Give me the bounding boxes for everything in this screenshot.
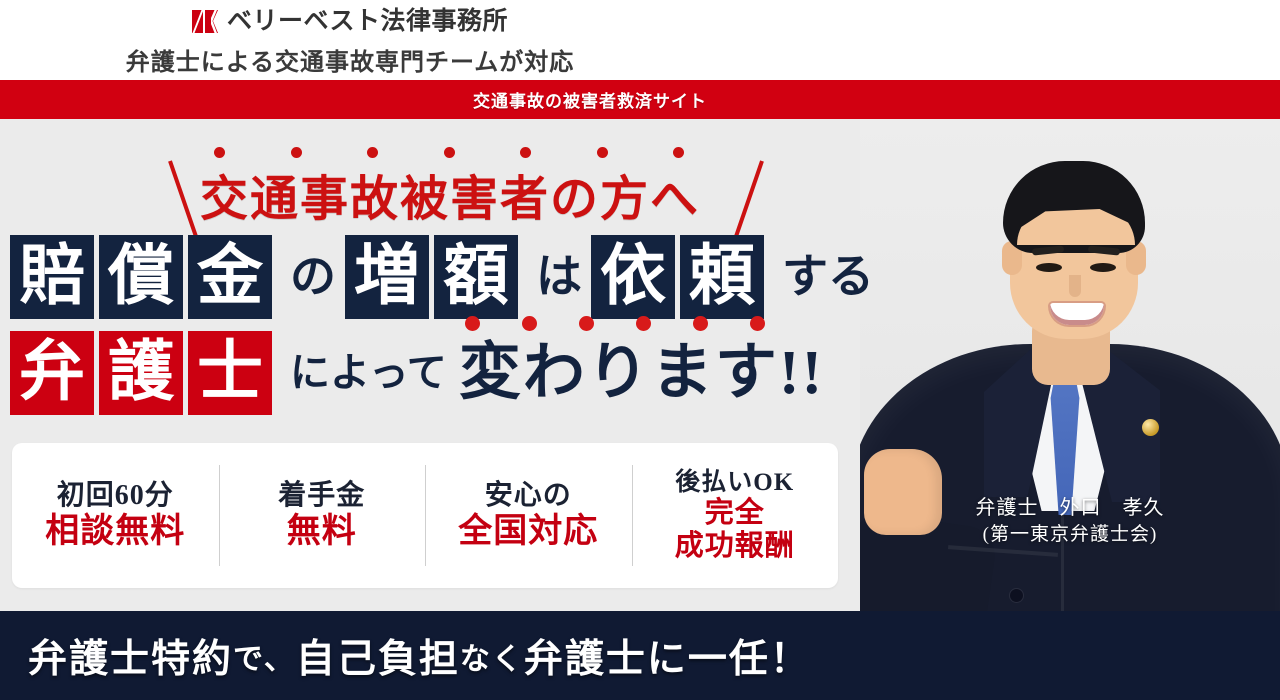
- headline-tile: 依: [591, 235, 675, 319]
- photo-nose: [1069, 275, 1081, 297]
- emphasis-dot: [693, 316, 708, 331]
- benefit-top-label: 後払いOK: [675, 469, 794, 498]
- bottom-banner-text: 弁護士特約で、自己負担なく弁護士に一任！: [28, 611, 811, 700]
- headline-tile: 金: [188, 235, 272, 319]
- headline-tile: 士: [188, 331, 272, 415]
- benefit-main-label: 完全: [705, 497, 765, 529]
- benefit-main-label-2: 成功報酬: [675, 530, 795, 562]
- emphasis-dot: [579, 316, 594, 331]
- berrybest-logo-icon: [192, 10, 218, 33]
- headline-tile: 償: [99, 235, 183, 319]
- headline-kana: は: [536, 254, 582, 300]
- emphasis-dot: [291, 147, 302, 158]
- emphasis-dot: [673, 147, 684, 158]
- headline-tile: 額: [434, 235, 518, 319]
- headline-tile: 賠: [10, 235, 94, 319]
- headline-tile: 護: [99, 331, 183, 415]
- bottom-text-part: で、: [233, 634, 296, 678]
- landing-page: ベリーベスト法律事務所 弁護士による交通事故専門チームが対応 交通事故の被害者救…: [0, 0, 1280, 700]
- benefit-main-label: 相談無料: [45, 513, 185, 551]
- headline-kana: の: [290, 254, 336, 300]
- header-inner: ベリーベスト法律事務所 弁護士による交通事故専門チームが対応: [0, 4, 700, 77]
- emphasis-dot: [750, 316, 765, 331]
- benefit-main-label: 全国対応: [458, 513, 598, 551]
- headline-line-1: 賠 償 金 の 増 額 は 依 頼 する: [0, 229, 900, 325]
- catch-text: 交通事故被害者の方へ: [0, 159, 900, 229]
- benefit-top-label: 着手金: [278, 480, 365, 512]
- bottom-text-part: なく: [460, 634, 524, 678]
- photo-caption-name: 弁護士 外口 孝久: [860, 495, 1280, 522]
- benefit-item-contingency-fee: 後払いOK 完全 成功報酬: [632, 443, 839, 588]
- emphasis-dot: [444, 147, 455, 158]
- emphasis-dot: [214, 147, 225, 158]
- headline-block: 賠 償 金 の 増 額 は 依 頼 する 弁 護 士 によって: [0, 229, 900, 421]
- emphasis-dot: [367, 147, 378, 158]
- photo-eye-right: [1090, 263, 1116, 272]
- photo-suit-button: [1010, 589, 1023, 602]
- benefit-item-free-consultation: 初回60分 相談無料: [12, 443, 219, 588]
- header-tagline: 弁護士による交通事故専門チームが対応: [0, 42, 700, 77]
- headline-tile: 頼: [680, 235, 764, 319]
- catch-copy: 交通事故被害者の方へ: [0, 141, 900, 241]
- emphasis-dot: [597, 147, 608, 158]
- headline-tile: 増: [345, 235, 429, 319]
- lawyer-badge-icon: [1142, 419, 1159, 436]
- headline-line-2: 弁 護 士 によって 変わります!!: [0, 325, 900, 421]
- photo-eye-left: [1036, 263, 1062, 272]
- benefit-item-no-retainer: 着手金 無料: [219, 443, 426, 588]
- site-ribbon: 交通事故の被害者救済サイト: [0, 80, 1280, 119]
- benefit-top-label: 安心の: [485, 480, 572, 512]
- headline-kana: によって: [290, 353, 447, 393]
- benefit-item-nationwide: 安心の 全国対応: [425, 443, 632, 588]
- brand-name: ベリーベスト法律事務所: [227, 9, 508, 34]
- photo-caption: 弁護士 外口 孝久 (第一東京弁護士会): [860, 495, 1280, 548]
- headline-tile: 弁: [10, 331, 94, 415]
- emphasis-dot: [522, 316, 537, 331]
- benefits-panel: 初回60分 相談無料 着手金 無料 安心の 全国対応 後払いOK 完全 成功報酬: [12, 443, 838, 588]
- bottom-text-part: 弁護士に一任！: [524, 628, 811, 684]
- bottom-text-part: 弁護士特約: [28, 628, 233, 684]
- ribbon-text: 交通事故の被害者救済サイト: [0, 80, 1180, 119]
- headline-emphasis-text: 変わります!!: [459, 339, 824, 407]
- benefit-top-label: 初回60分: [57, 480, 174, 512]
- bottom-banner: 弁護士特約で、自己負担なく弁護士に一任！: [0, 611, 1280, 700]
- emphasis-dot: [465, 316, 480, 331]
- benefit-main-label: 無料: [287, 513, 357, 551]
- emphasis-dot: [636, 316, 651, 331]
- bottom-text-part: 自己負担: [296, 628, 460, 684]
- photo-caption-bar: (第一東京弁護士会): [860, 522, 1280, 548]
- site-header: ベリーベスト法律事務所 弁護士による交通事故専門チームが対応: [0, 0, 1280, 80]
- catch-emphasis-dots: [214, 147, 684, 158]
- headline-emphasis-dots: [465, 316, 765, 331]
- headline-kana: する: [782, 254, 874, 300]
- brand-row[interactable]: ベリーベスト法律事務所: [0, 4, 700, 38]
- emphasis-dot: [520, 147, 531, 158]
- headline-emphasis-wrap: 変わります!!: [459, 342, 824, 404]
- hero-section: 弁護士 外口 孝久 (第一東京弁護士会) 交通事故被害者の方へ 賠: [0, 119, 1280, 611]
